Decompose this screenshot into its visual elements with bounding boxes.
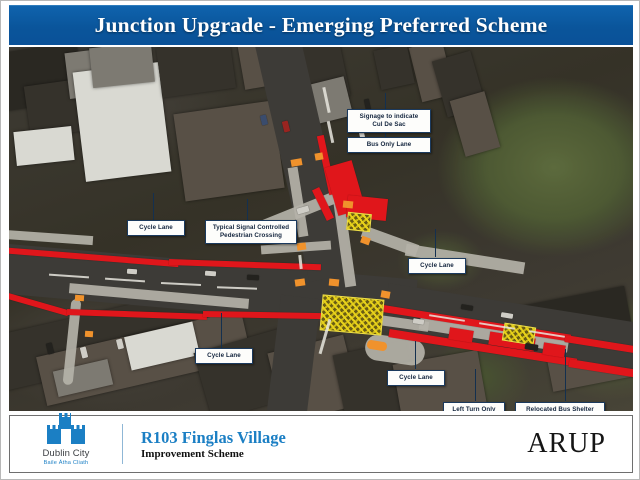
callout-cycle-lane-sw[interactable]: Cycle Lane: [195, 348, 253, 364]
slide-title: Junction Upgrade - Emerging Preferred Sc…: [95, 13, 548, 38]
callout-line-1: Bus Only Lane: [353, 141, 425, 149]
callout-leader: [565, 349, 566, 401]
building-roof: [173, 100, 284, 201]
callout-line-1: Cycle Lane: [133, 224, 179, 232]
council-name-irish: Baile Átha Cliath: [44, 460, 89, 466]
callout-leader: [385, 93, 386, 109]
tactile-paving: [343, 200, 354, 208]
presentation-slide: Junction Upgrade - Emerging Preferred Sc…: [0, 0, 640, 480]
castle-icon: [47, 429, 61, 444]
arup-logo: ARUP: [527, 428, 632, 460]
tactile-paving: [380, 290, 390, 298]
callout-leader: [247, 199, 248, 221]
tactile-paving: [329, 278, 340, 286]
callout-cycle-lane-nw[interactable]: Cycle Lane: [127, 220, 185, 236]
callout-signage-cul-de-sac[interactable]: Signage to indicate Cul De Sac: [347, 109, 431, 133]
callout-line-1: Signage to indicate: [353, 113, 425, 121]
callout-leader: [435, 229, 436, 257]
callout-leader: [475, 369, 476, 401]
callout-relocated-bus-shelter[interactable]: Relocated Bus Shelter: [515, 402, 605, 411]
tactile-paving: [75, 295, 84, 302]
callout-pedestrian-crossing[interactable]: Typical Signal Controlled Pedestrian Cro…: [205, 220, 297, 244]
vehicle: [247, 275, 259, 281]
vehicle: [127, 269, 137, 275]
castle-icon: [71, 429, 85, 444]
callout-line-2: Pedestrian Crossing: [211, 232, 291, 240]
box-junction-hatching: [346, 212, 372, 232]
tactile-paving: [297, 242, 307, 250]
tactile-paving: [85, 331, 93, 338]
title-banner: Junction Upgrade - Emerging Preferred Sc…: [9, 5, 633, 45]
castle-towers-icon: [37, 422, 95, 444]
dublin-city-council-logo: Dublin City Baile Átha Cliath: [10, 416, 122, 472]
callout-leader: [221, 313, 222, 349]
callout-line-1: Cycle Lane: [414, 262, 460, 270]
vehicle: [205, 271, 216, 277]
callout-left-turn-only[interactable]: Left Turn Only: [443, 402, 505, 411]
council-name: Dublin City: [42, 448, 89, 459]
callout-cycle-lane-ne[interactable]: Cycle Lane: [408, 258, 466, 274]
tactile-paving: [295, 278, 306, 286]
building-roof: [373, 47, 415, 90]
callout-line-2: Cul De Sac: [353, 121, 425, 129]
callout-line-1: Typical Signal Controlled: [211, 224, 291, 232]
aerial-map: Signage to indicate Cul De Sac Bus Only …: [9, 47, 633, 411]
box-junction-hatching: [320, 294, 385, 335]
scheme-subtitle: Improvement Scheme: [141, 447, 527, 461]
tactile-paving: [314, 152, 323, 160]
callout-cycle-lane-s[interactable]: Cycle Lane: [387, 370, 445, 386]
callout-leader: [415, 341, 416, 369]
callout-leader: [153, 193, 154, 221]
callout-line-1: Relocated Bus Shelter: [521, 406, 599, 411]
callout-line-1: Cycle Lane: [201, 352, 247, 360]
building-roof: [13, 126, 74, 166]
callout-bus-only-lane[interactable]: Bus Only Lane: [347, 137, 431, 153]
scheme-title: R103 Finglas Village: [141, 428, 527, 447]
building-roof: [89, 47, 155, 88]
slide-footer: Dublin City Baile Átha Cliath R103 Fingl…: [9, 415, 633, 473]
callout-line-1: Left Turn Only: [449, 406, 499, 411]
callout-line-1: Cycle Lane: [393, 374, 439, 382]
footer-titles: R103 Finglas Village Improvement Scheme: [123, 428, 527, 461]
